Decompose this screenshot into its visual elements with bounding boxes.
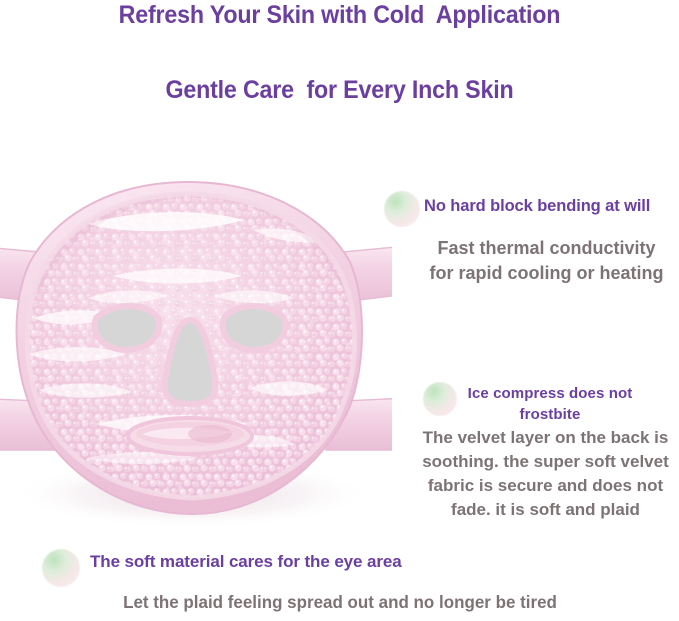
feature-heading-soft-material: The soft material cares for the eye area <box>90 552 402 572</box>
headline-secondary: Gentle Care for Every Inch Skin <box>24 77 655 105</box>
gradient-dot-icon <box>42 549 80 587</box>
feature-body-soft-material: Let the plaid feeling spread out and no … <box>30 590 651 614</box>
mouth-opening <box>128 418 252 454</box>
product-image-gel-face-mask <box>0 158 392 528</box>
feature-heading-ice-compress: Ice compress does not frostbite <box>430 383 670 425</box>
gradient-dot-icon <box>384 191 420 227</box>
feature-heading-no-hard-block: No hard block bending at will <box>424 197 650 216</box>
feature-body-no-hard-block: Fast thermal conductivity for rapid cool… <box>414 236 679 286</box>
feature-body-ice-compress: The velvet layer on the back is soothing… <box>412 426 679 522</box>
headline-primary: Refresh Your Skin with Cold Application <box>24 2 655 30</box>
